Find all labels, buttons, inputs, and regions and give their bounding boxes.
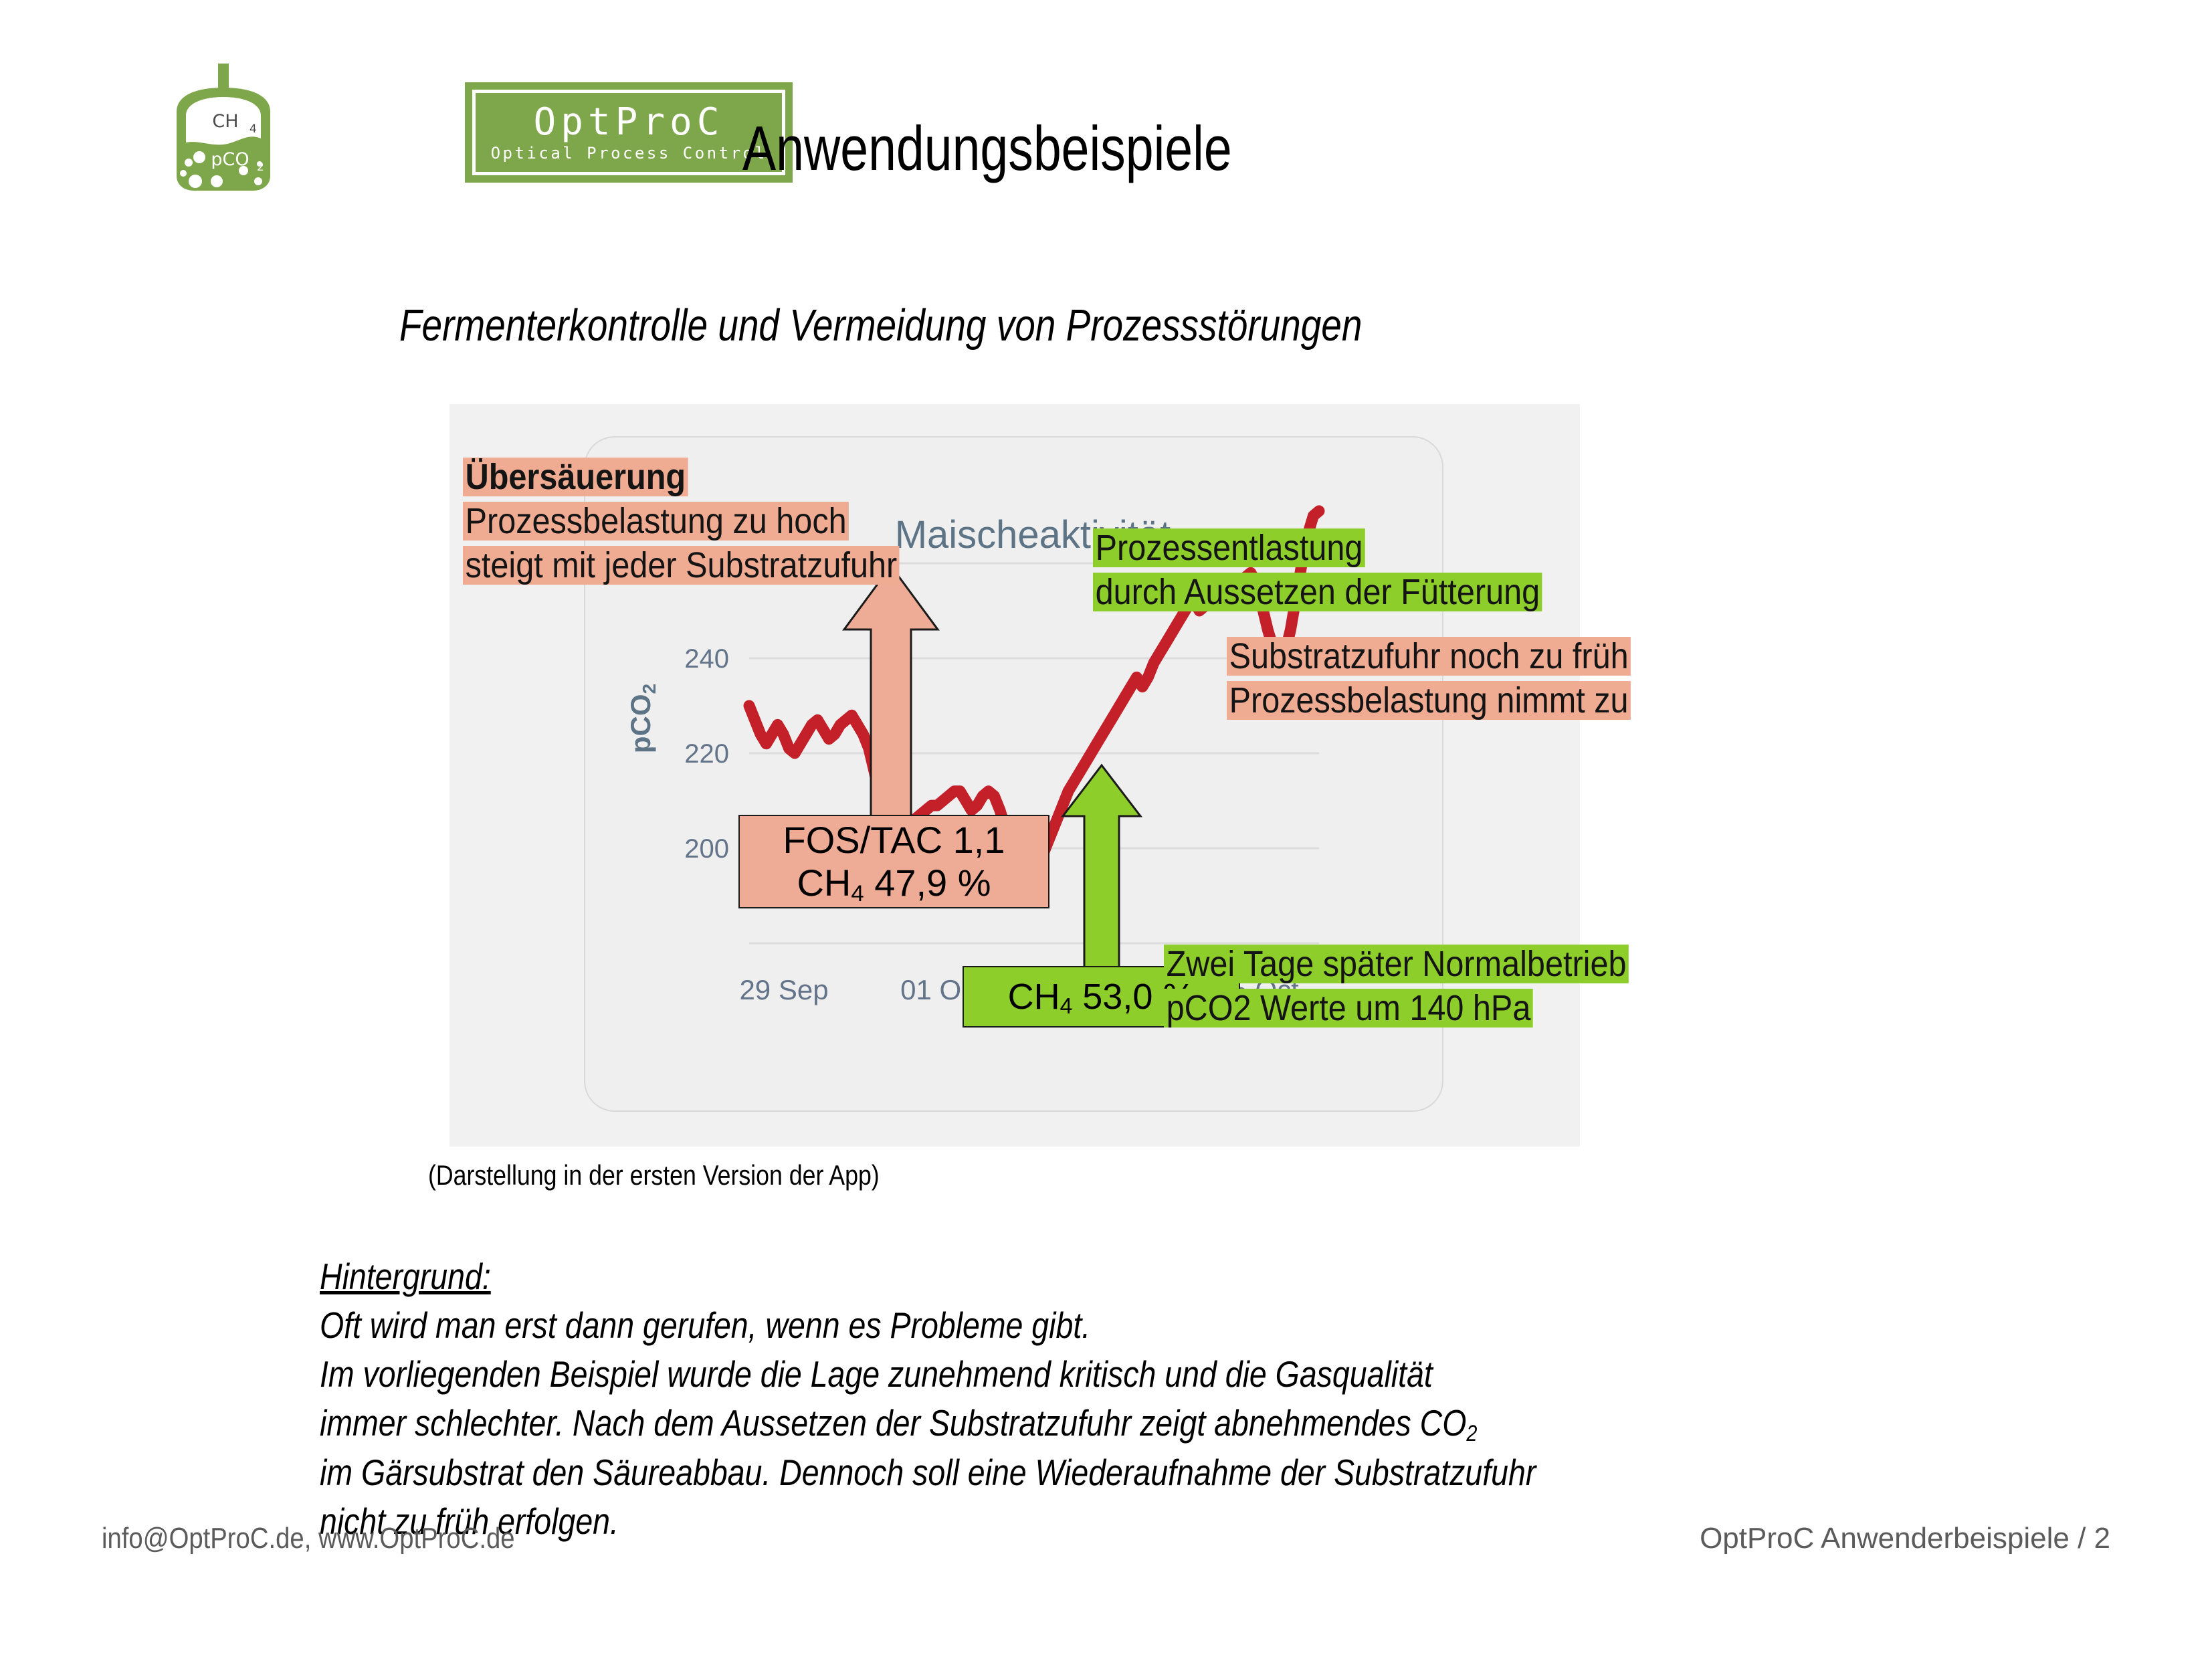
annotation-red-right-line1: Substratzufuhr noch zu früh xyxy=(1227,637,1631,676)
background-heading: Hintergrund: xyxy=(320,1252,1676,1301)
svg-text:CH: CH xyxy=(212,111,238,132)
chart-figure: 260 240 220 200 pCO2 29 Sep 01 Oct 03 Oc… xyxy=(449,404,1580,1147)
annotation-red-top-line2: Prozessbelastung zu hoch xyxy=(463,502,849,541)
brand-tagline: Optical Process Control xyxy=(491,145,767,161)
fostac-callout: FOS/TAC 1,1 CH4 47,9 % xyxy=(738,815,1049,908)
annotation-red-top-heading: Übersäuerung xyxy=(463,458,688,496)
svg-text:220: 220 xyxy=(684,739,729,769)
background-line-3: immer schlechter. Nach dem Aussetzen der… xyxy=(320,1399,1676,1448)
background-line-5: nicht zu früh erfolgen. xyxy=(320,1497,1676,1546)
footer-contact: info@OptProC.de, www.OptProC.de xyxy=(102,1522,515,1555)
annotation-green-bottom-line2: pCO2 Werte um 140 hPa xyxy=(1164,989,1533,1028)
annotation-red-top-line3: steigt mit jeder Substratzufuhr xyxy=(463,546,900,585)
annotation-red-right-line2: Prozessbelastung nimmt zu xyxy=(1227,681,1631,720)
background-line-1: Oft wird man erst dann gerufen, wenn es … xyxy=(320,1301,1676,1350)
page-title: Anwendungsbeispiele xyxy=(742,112,1232,185)
background-line-2: Im vorliegenden Beispiel wurde die Lage … xyxy=(320,1350,1676,1399)
svg-text:4: 4 xyxy=(249,122,257,136)
svg-text:pCO2: pCO2 xyxy=(625,684,660,753)
svg-text:29 Sep: 29 Sep xyxy=(739,974,828,1005)
brand-name: OptProC xyxy=(533,104,724,141)
background-line-4: im Gärsubstrat den Säureabbau. Dennoch s… xyxy=(320,1448,1676,1497)
fostac-callout-line2: CH4 47,9 % xyxy=(797,862,991,904)
annotation-green-bottom-line1: Zwei Tage später Normalbetrieb xyxy=(1164,945,1629,983)
annotation-green-top-line1: Prozessentlastung xyxy=(1093,528,1365,567)
green-callout-arrow xyxy=(1055,760,1148,974)
logo-block: CH 4 pCO 2 OptProC Optical Process Contr… xyxy=(161,64,642,197)
page-subtitle: Fermenterkontrolle und Vermeidung von Pr… xyxy=(399,300,1362,351)
annotation-green-top-line2: durch Aussetzen der Fütterung xyxy=(1093,573,1542,611)
slide: CH 4 pCO 2 OptProC Optical Process Contr… xyxy=(0,0,2212,1659)
footer-deck-label: OptProC Anwenderbeispiele / 2 xyxy=(1700,1522,2110,1555)
fostac-callout-line1: FOS/TAC 1,1 xyxy=(783,819,1005,862)
background-text-block: Hintergrund: Oft wird man erst dann geru… xyxy=(320,1252,1676,1546)
red-callout-arrow xyxy=(831,559,951,827)
svg-text:200: 200 xyxy=(684,834,729,864)
svg-text:240: 240 xyxy=(684,644,729,674)
flask-icon: CH 4 pCO 2 xyxy=(161,64,291,197)
figure-caption: (Darstellung in der ersten Version der A… xyxy=(428,1159,880,1191)
